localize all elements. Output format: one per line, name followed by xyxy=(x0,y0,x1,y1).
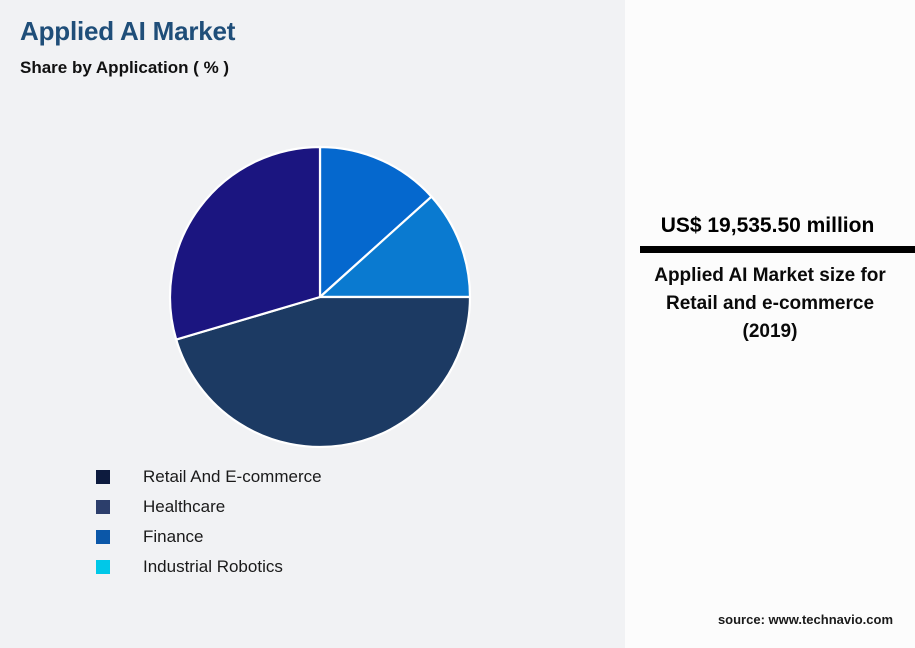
pie-slice-group xyxy=(170,147,470,447)
kpi-panel: US$ 19,535.50 million Applied AI Market … xyxy=(625,0,915,648)
kpi-caption: Applied AI Market size for Retail and e-… xyxy=(640,262,900,346)
pie-chart xyxy=(0,0,625,460)
legend-item-industrial-robotics[interactable]: Industrial Robotics xyxy=(96,552,596,582)
legend-item-label: Industrial Robotics xyxy=(143,557,283,577)
legend-item-retail-and-e-commerce[interactable]: Retail And E-commerce xyxy=(96,462,596,492)
legend-item-label: Healthcare xyxy=(143,497,225,517)
legend-swatch-icon xyxy=(96,530,110,544)
kpi-value: US$ 19,535.50 million xyxy=(625,214,915,238)
legend-item-finance[interactable]: Finance xyxy=(96,522,596,552)
kpi-divider xyxy=(640,246,915,253)
chart-page: Applied AI Market Share by Application (… xyxy=(0,0,915,648)
pie-chart-svg xyxy=(0,0,625,460)
legend-item-healthcare[interactable]: Healthcare xyxy=(96,492,596,522)
chart-panel: Applied AI Market Share by Application (… xyxy=(0,0,625,648)
chart-legend: Retail And E-commerce Healthcare Finance… xyxy=(96,462,596,582)
legend-item-label: Retail And E-commerce xyxy=(143,467,322,487)
legend-item-label: Finance xyxy=(143,527,203,547)
legend-swatch-icon xyxy=(96,500,110,514)
source-note: source: www.technavio.com xyxy=(625,612,915,627)
legend-swatch-icon xyxy=(96,470,110,484)
legend-swatch-icon xyxy=(96,560,110,574)
